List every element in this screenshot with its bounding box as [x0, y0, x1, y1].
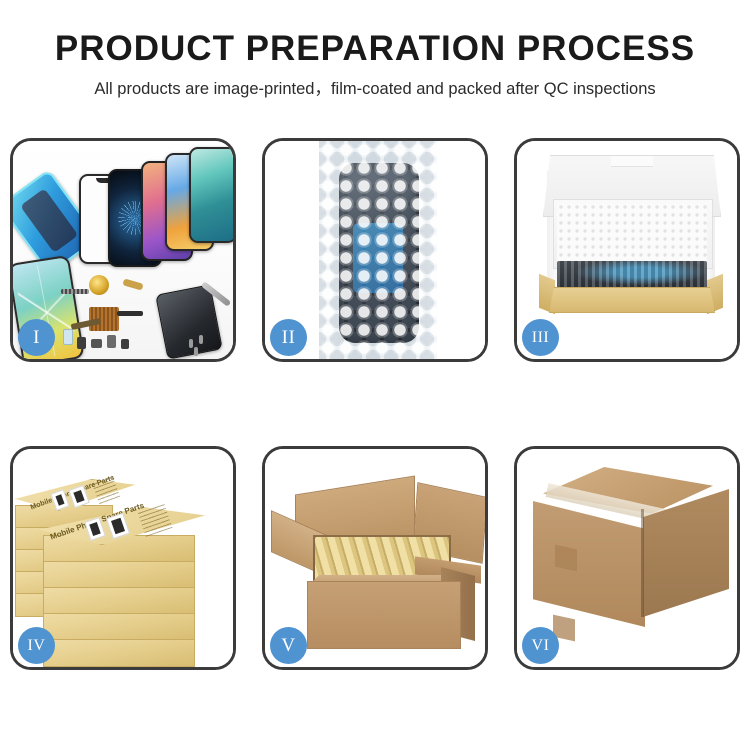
- packed-parts-row: [557, 261, 707, 289]
- screw-part-3: [194, 347, 198, 356]
- step-card-4[interactable]: Mobile Phone Spare Parts Mobile Phone Sp…: [10, 446, 236, 670]
- step-badge-6: VI: [522, 627, 559, 664]
- small-component-2: [91, 339, 102, 348]
- bubble-wrap-sheet: [319, 141, 437, 359]
- small-component-4: [121, 339, 129, 349]
- step-card-2[interactable]: II: [262, 138, 488, 362]
- step-badge-3: III: [522, 319, 559, 356]
- page-title: PRODUCT PREPARATION PROCESS: [0, 28, 750, 70]
- gold-box-stack-right-2: [43, 561, 195, 589]
- screw-part-2: [199, 335, 203, 344]
- page-subtitle: All products are image-printed，film-coat…: [0, 77, 750, 101]
- step-badge-1: I: [18, 319, 55, 356]
- ribbon-cable-part: [61, 289, 89, 294]
- step-card-1[interactable]: I: [10, 138, 236, 362]
- step-card-3[interactable]: III: [514, 138, 740, 362]
- mailer-front-panel: [549, 287, 715, 313]
- small-component-5: [63, 329, 73, 345]
- carton-handle-tab-1: [555, 545, 577, 572]
- steps-grid: I II III: [10, 138, 740, 670]
- screw-part-1: [189, 339, 193, 348]
- foam-lining: [557, 203, 707, 263]
- step-badge-4: IV: [18, 627, 55, 664]
- gold-box-stack-right-5: [43, 639, 195, 667]
- header: PRODUCT PREPARATION PROCESS All products…: [0, 0, 750, 101]
- small-component-1: [77, 337, 86, 349]
- bubble-highlights: [319, 141, 437, 359]
- gold-box-stack-right-4: [43, 613, 195, 641]
- sealed-carton-corner-seam: [641, 509, 644, 617]
- flex-cable-part-2: [117, 311, 143, 316]
- step-badge-2: II: [270, 319, 307, 356]
- phone-display-green: [189, 147, 233, 243]
- coil-part-icon: [89, 275, 109, 295]
- gold-box-stack-right-3: [43, 587, 195, 615]
- small-component-3: [107, 335, 116, 348]
- carton-front-panel: [307, 581, 461, 649]
- step-card-5[interactable]: V: [262, 446, 488, 670]
- step-card-6[interactable]: VI: [514, 446, 740, 670]
- step-badge-5: V: [270, 627, 307, 664]
